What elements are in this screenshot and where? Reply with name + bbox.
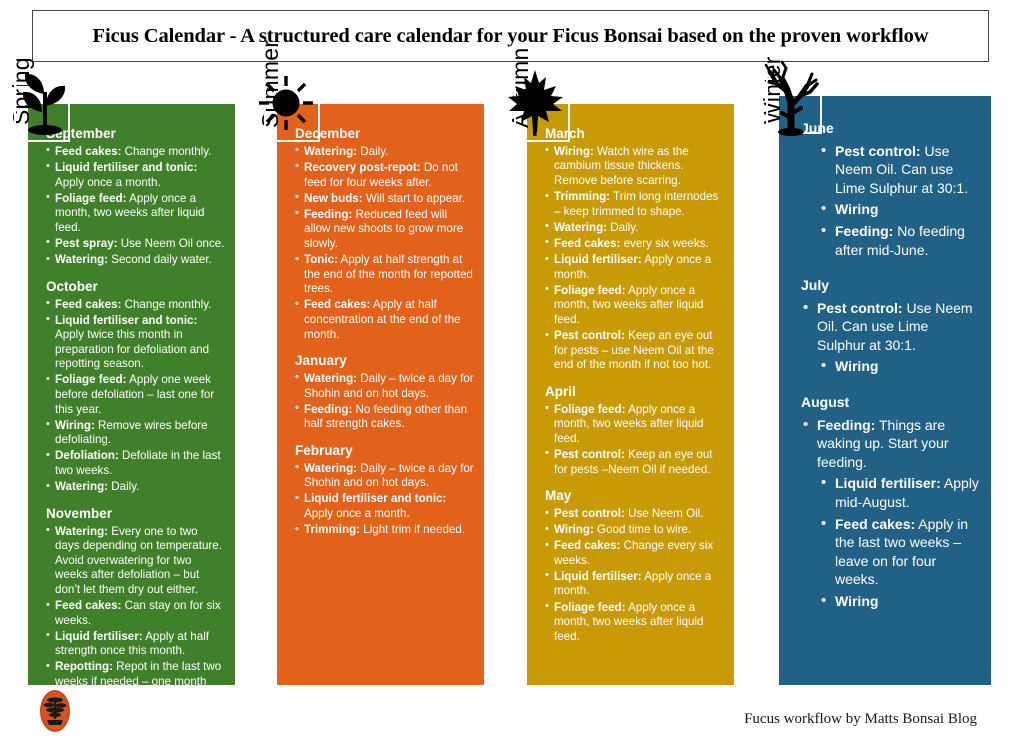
list-item: New buds: Will start to appear. (295, 192, 474, 207)
list-item: Foliage feed: Apply one week before defo… (46, 373, 225, 417)
month-block-may: May Pest control: Use Neem Oil. Wiring: … (545, 488, 724, 644)
winter-content: June Pest control: Use Neem Oil. Can use… (779, 96, 991, 685)
item-term: Feed cakes: (304, 298, 370, 311)
list-item: Watering: Second daily water. (46, 253, 225, 268)
season-column-summer: December Watering: Daily. Recovery post-… (277, 104, 484, 685)
item-text: Use Neem Oil once. (118, 237, 225, 250)
bullet-list: Pest control: Use Neem Oil. Can use Lime… (801, 299, 979, 355)
item-term: Feeding: (835, 223, 893, 239)
list-item: Wiring (819, 592, 979, 611)
season-column-winter: June Pest control: Use Neem Oil. Can use… (779, 96, 991, 685)
list-item: Liquid fertiliser: Apply once a month. (545, 253, 724, 282)
summer-content: December Watering: Daily. Recovery post-… (277, 104, 484, 685)
item-term: Wiring (835, 358, 878, 374)
seedling-icon (8, 66, 80, 146)
item-term: Pest control: (835, 143, 921, 159)
month-heading: January (295, 353, 474, 370)
list-item: Feed cakes: Apply at half concentration … (295, 298, 474, 342)
list-item: Feed cakes: Change monthly. (46, 145, 225, 160)
list-item: Watering: Daily – twice a day for Shohin… (295, 462, 474, 491)
item-term: Feed cakes: (55, 298, 121, 311)
spring-content: September Feed cakes: Change monthly. Li… (28, 104, 235, 685)
list-item: Pest control: Use Neem Oil. (545, 507, 724, 522)
list-item: Foliage feed: Apply once a month, two we… (545, 403, 724, 447)
item-text: Change monthly. (121, 298, 211, 311)
item-term: Wiring: (554, 523, 594, 536)
item-term: Pest control: (554, 507, 625, 520)
bullet-list: Feed cakes: Change monthly. Liquid ferti… (46, 145, 225, 268)
sun-icon (258, 66, 330, 146)
item-term: Feeding: (817, 417, 875, 433)
month-block-september: September Feed cakes: Change monthly. Li… (46, 126, 225, 268)
item-term: New buds: (304, 192, 363, 205)
item-text: Second daily water. (108, 253, 212, 266)
month-block-january: January Watering: Daily – twice a day fo… (295, 353, 474, 432)
list-item: Wiring (819, 357, 979, 376)
month-block-october: October Feed cakes: Change monthly. Liqu… (46, 279, 225, 495)
item-term: Watering: (55, 525, 108, 538)
bullet-list: Wiring (819, 357, 979, 376)
item-term: Liquid fertiliser: (554, 570, 642, 583)
item-term: Pest spray: (55, 237, 118, 250)
list-item: Foliage feed: Apply once a month, two we… (545, 284, 724, 328)
item-term: Pest control: (554, 329, 625, 342)
list-item: Feeding: No feeding after mid-June. (819, 222, 979, 259)
bullet-list: Feed cakes: Change monthly. Liquid ferti… (46, 298, 225, 495)
list-item: Liquid fertiliser and tonic: Apply once … (295, 492, 474, 521)
footer-credit: Fucus workflow by Matts Bonsai Blog (744, 711, 977, 728)
list-item: Pest control: Use Neem Oil. Can use Lime… (801, 299, 979, 355)
page-title: Ficus Calendar - A structured care calen… (93, 25, 929, 48)
bullet-list: Pest control: Use Neem Oil. Can use Lime… (819, 142, 979, 260)
month-block-february: February Watering: Daily – twice a day f… (295, 443, 474, 538)
item-term: Defoliation: (55, 449, 119, 462)
item-term: Feeding: (304, 208, 352, 221)
item-term: Watering: (304, 145, 357, 158)
list-item: Defoliation: Defoliate in the last two w… (46, 449, 225, 478)
list-item: Liquid fertiliser and tonic: Apply twice… (46, 314, 225, 372)
list-item: Watering: Daily. (295, 145, 474, 160)
list-item: Feeding: No feeding other than half stre… (295, 403, 474, 432)
list-item: Pest spray: Use Neem Oil once. (46, 237, 225, 252)
list-item: Feed cakes: Change every six weeks. (545, 539, 724, 568)
list-item: Pest control: Use Neem Oil. Can use Lime… (819, 142, 979, 198)
item-text: Light trim if needed. (360, 523, 465, 536)
list-item: Feed cakes: every six weeks. (545, 237, 724, 252)
item-term: Liquid fertiliser and tonic: (304, 492, 446, 505)
list-item: Feeding: Things are waking up. Start you… (801, 416, 979, 472)
item-term: Wiring (835, 201, 878, 217)
item-term: Feeding: (304, 403, 352, 416)
month-block-march: March Wiring: Watch wire as the cambium … (545, 126, 724, 373)
list-item: Liquid fertiliser and tonic: Apply once … (46, 161, 225, 190)
bonsai-tree-logo (38, 689, 72, 733)
list-item: Wiring (819, 200, 979, 219)
list-item: Watering: Daily. (46, 480, 225, 495)
list-item: Watering: Every one to two days dependin… (46, 525, 225, 598)
season-column-autumn: March Wiring: Watch wire as the cambium … (527, 104, 734, 685)
list-item: Feeding: Reduced feed will allow new sho… (295, 208, 474, 252)
item-term: Liquid fertiliser: (835, 475, 941, 491)
month-heading: August (801, 394, 979, 412)
item-term: Trimming: (304, 523, 360, 536)
item-term: Feed cakes: (554, 539, 620, 552)
item-term: Liquid fertiliser and tonic: (55, 314, 197, 327)
item-term: Feed cakes: (55, 599, 121, 612)
list-item: Wiring: Good time to wire. (545, 523, 724, 538)
month-block-july: July Pest control: Use Neem Oil. Can use… (801, 277, 979, 376)
list-item: Trimming: Light trim if needed. (295, 523, 474, 538)
item-text: Apply once a month. (304, 507, 410, 520)
list-item: Feed cakes: Can stay on for six weeks. (46, 599, 225, 628)
item-term: Feed cakes: (55, 145, 121, 158)
item-term: Foliage feed: (554, 284, 626, 297)
list-item: Trimming: Trim long internodes – keep tr… (545, 190, 724, 219)
month-heading: July (801, 277, 979, 295)
item-term: Trimming: (554, 190, 610, 203)
season-column-spring: September Feed cakes: Change monthly. Li… (28, 104, 235, 685)
item-text: Will start to appear. (363, 192, 465, 205)
item-term: Watering: (554, 221, 607, 234)
bare-tree-icon (760, 58, 836, 144)
month-block-december: December Watering: Daily. Recovery post-… (295, 126, 474, 342)
bullet-list: Watering: Every one to two days dependin… (46, 525, 225, 685)
item-term: Watering: (55, 480, 108, 493)
month-block-november: November Watering: Every one to two days… (46, 506, 225, 685)
item-text: every six weeks. (620, 237, 708, 250)
summer-icon-badge (264, 86, 320, 142)
bullet-list: Watering: Daily – twice a day for Shohin… (295, 462, 474, 538)
month-heading: May (545, 488, 724, 505)
list-item: Repotting: Repot in the last two weeks i… (46, 660, 225, 685)
item-term: Watering: (55, 253, 108, 266)
item-term: Wiring (835, 593, 878, 609)
item-term: Recovery post-repot: (304, 161, 421, 174)
list-item: Liquid fertiliser: Apply at half strengt… (46, 630, 225, 659)
item-term: Liquid fertiliser and tonic: (55, 161, 197, 174)
list-item: Watering: Daily. (545, 221, 724, 236)
month-block-april: April Foliage feed: Apply once a month, … (545, 384, 724, 477)
autumn-icon-badge (514, 86, 570, 142)
list-item: Wiring: Watch wire as the cambium tissue… (545, 145, 724, 189)
item-term: Liquid fertiliser: (554, 253, 642, 266)
item-term: Feed cakes: (835, 516, 915, 532)
item-term: Foliage feed: (55, 373, 127, 386)
list-item: Wiring: Remove wires before defoliating. (46, 419, 225, 448)
bullet-list: Liquid fertiliser: Apply mid-August. Fee… (819, 474, 979, 610)
list-item: Foliage feed: Apply once a month, two we… (46, 192, 225, 236)
list-item: Liquid fertiliser: Apply mid-August. (819, 474, 979, 511)
item-term: Repotting: (55, 660, 113, 673)
maple-leaf-icon (508, 66, 580, 146)
item-term: Foliage feed: (55, 192, 127, 205)
item-term: Watering: (304, 462, 357, 475)
item-text: Apply twice this month in preparation fo… (55, 328, 209, 370)
item-term: Wiring: (55, 419, 95, 432)
list-item: Liquid fertiliser: Apply once a month. (545, 570, 724, 599)
bullet-list: Wiring: Watch wire as the cambium tissue… (545, 145, 724, 373)
item-text: Apply once a month. (55, 176, 161, 189)
item-text: Daily. (108, 480, 139, 493)
item-term: Tonic: (304, 253, 338, 266)
list-item: Tonic: Apply at half strength at the end… (295, 253, 474, 297)
month-heading: October (46, 279, 225, 296)
list-item: Feed cakes: Apply in the last two weeks … (819, 515, 979, 589)
item-text: Good time to wire. (594, 523, 691, 536)
list-item: Feed cakes: Change monthly. (46, 298, 225, 313)
list-item: Pest control: Keep an eye out for pests … (545, 329, 724, 373)
bullet-list: Feeding: Things are waking up. Start you… (801, 416, 979, 472)
month-heading: April (545, 384, 724, 401)
item-term: Watering: (304, 372, 357, 385)
bullet-list: Pest control: Use Neem Oil. Wiring: Good… (545, 507, 724, 644)
item-term: Liquid fertiliser: (55, 630, 143, 643)
item-text: Use Neem Oil. (625, 507, 704, 520)
winter-icon-badge (766, 78, 822, 134)
item-text: Daily. (357, 145, 388, 158)
item-text: Change monthly. (121, 145, 211, 158)
list-item: Foliage feed: Apply once a month, two we… (545, 601, 724, 645)
item-term: Wiring: (554, 145, 594, 158)
bullet-list: Watering: Daily. Recovery post-repot: Do… (295, 145, 474, 342)
item-term: Foliage feed: (554, 403, 626, 416)
item-term: Pest control: (554, 448, 625, 461)
item-term: Foliage feed: (554, 601, 626, 614)
autumn-content: March Wiring: Watch wire as the cambium … (527, 104, 734, 685)
month-heading: November (46, 506, 225, 523)
list-item: Recovery post-repot: Do not feed for fou… (295, 161, 474, 190)
spring-icon-badge (14, 86, 70, 142)
bullet-list: Watering: Daily – twice a day for Shohin… (295, 372, 474, 432)
month-block-august: August Feeding: Things are waking up. St… (801, 394, 979, 611)
bullet-list: Foliage feed: Apply once a month, two we… (545, 403, 724, 477)
item-text: Daily. (607, 221, 638, 234)
month-heading: February (295, 443, 474, 460)
item-term: Pest control: (817, 300, 903, 316)
list-item: Watering: Daily – twice a day for Shohin… (295, 372, 474, 401)
list-item: Pest control: Keep an eye out for pests … (545, 448, 724, 477)
item-term: Feed cakes: (554, 237, 620, 250)
